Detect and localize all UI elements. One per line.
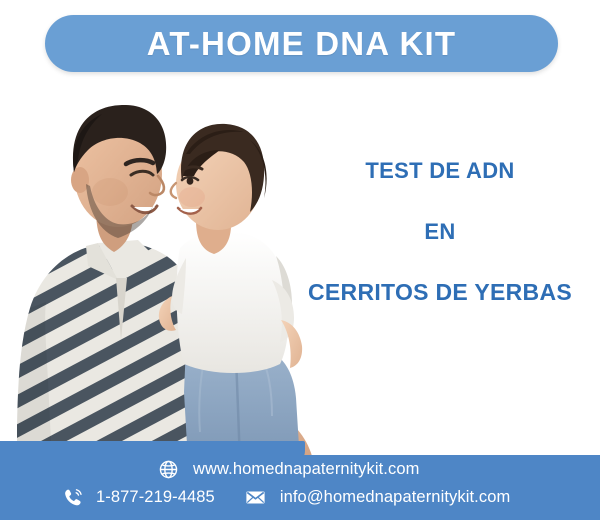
page-title: AT-HOME DNA KIT	[147, 27, 456, 60]
globe-icon	[158, 459, 179, 480]
headline-line-3: CERRITOS DE YERBAS	[290, 281, 590, 304]
poster-canvas: AT-HOME DNA KIT TEST DE ADN EN CERRITOS …	[0, 0, 600, 520]
footer-email-label: info@homednapaternitykit.com	[280, 489, 511, 506]
envelope-icon	[245, 487, 266, 508]
headline-line-2: EN	[290, 221, 590, 243]
phone-icon	[63, 487, 84, 508]
footer-row-website: www.homednapaternitykit.com	[158, 459, 419, 480]
headline-line-1: TEST DE ADN	[290, 160, 590, 182]
footer-phone-label: 1-877-219-4485	[96, 489, 215, 506]
family-photo	[0, 80, 320, 462]
footer-website-label: www.homednapaternitykit.com	[193, 461, 419, 478]
footer-row-contact: 1-877-219-4485 info@homednapaternitykit.…	[63, 487, 510, 508]
header-banner: AT-HOME DNA KIT	[45, 15, 558, 72]
footer-website[interactable]: www.homednapaternitykit.com	[158, 459, 419, 480]
footer-phone[interactable]: 1-877-219-4485	[63, 487, 215, 508]
headline-block: TEST DE ADN EN CERRITOS DE YERBAS	[290, 160, 590, 304]
footer-email[interactable]: info@homednapaternitykit.com	[245, 487, 511, 508]
